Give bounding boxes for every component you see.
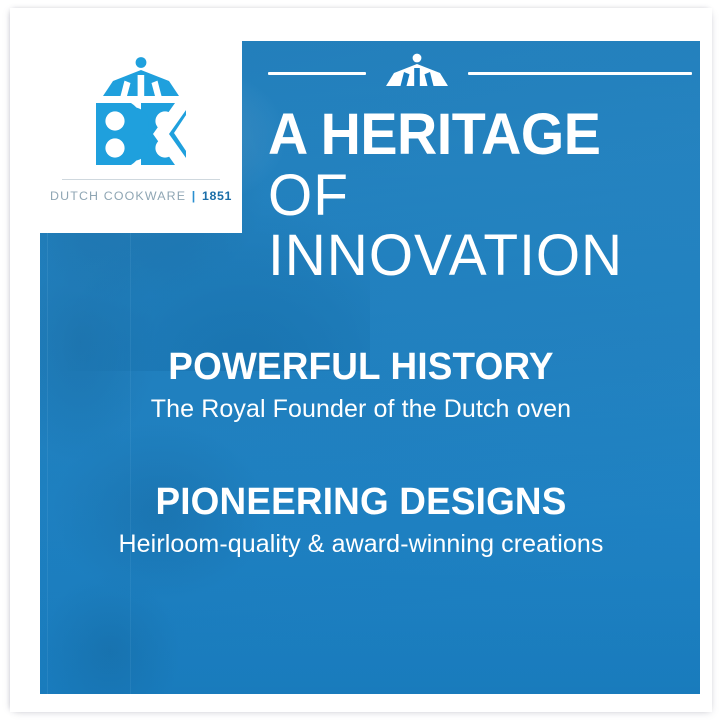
poster-headline: A HERITAGE OF INNOVATION: [242, 107, 712, 286]
horizontal-rule-right: [468, 72, 692, 75]
poster-header: A HERITAGE OF INNOVATION: [242, 41, 712, 286]
royal-crown-icon: [382, 53, 452, 93]
message-subtitle: Heirloom-quality & award-winning creatio…: [40, 529, 682, 560]
brand-logo-block: DUTCH COOKWARE | 1851: [40, 41, 242, 233]
message-list: POWERFUL HISTORY The Royal Founder of th…: [40, 348, 682, 560]
brand-tagline: DUTCH COOKWARE | 1851: [50, 189, 232, 203]
message-title: POWERFUL HISTORY: [50, 348, 673, 388]
message-title: PIONEERING DESIGNS: [50, 483, 673, 523]
message-block-pioneering-designs: PIONEERING DESIGNS Heirloom-quality & aw…: [40, 483, 682, 560]
crown-divider-row: [242, 41, 712, 105]
logo-divider: [62, 179, 220, 180]
poster-root: DUTCH COOKWARE | 1851 A HERITAGE: [0, 0, 720, 720]
poster-paper: DUTCH COOKWARE | 1851 A HERITAGE: [10, 8, 712, 712]
message-subtitle: The Royal Founder of the Dutch oven: [40, 394, 682, 425]
bk-monogram-crown-logo: [79, 53, 203, 177]
horizontal-rule-left: [268, 72, 366, 75]
message-block-powerful-history: POWERFUL HISTORY The Royal Founder of th…: [40, 348, 682, 425]
brand-tagline-year: 1851: [202, 189, 232, 203]
headline-line-2: OF INNOVATION: [268, 166, 703, 287]
brand-tagline-words: DUTCH COOKWARE: [50, 189, 186, 203]
brand-tagline-separator: |: [192, 189, 197, 203]
headline-line-1: A HERITAGE: [268, 107, 694, 164]
